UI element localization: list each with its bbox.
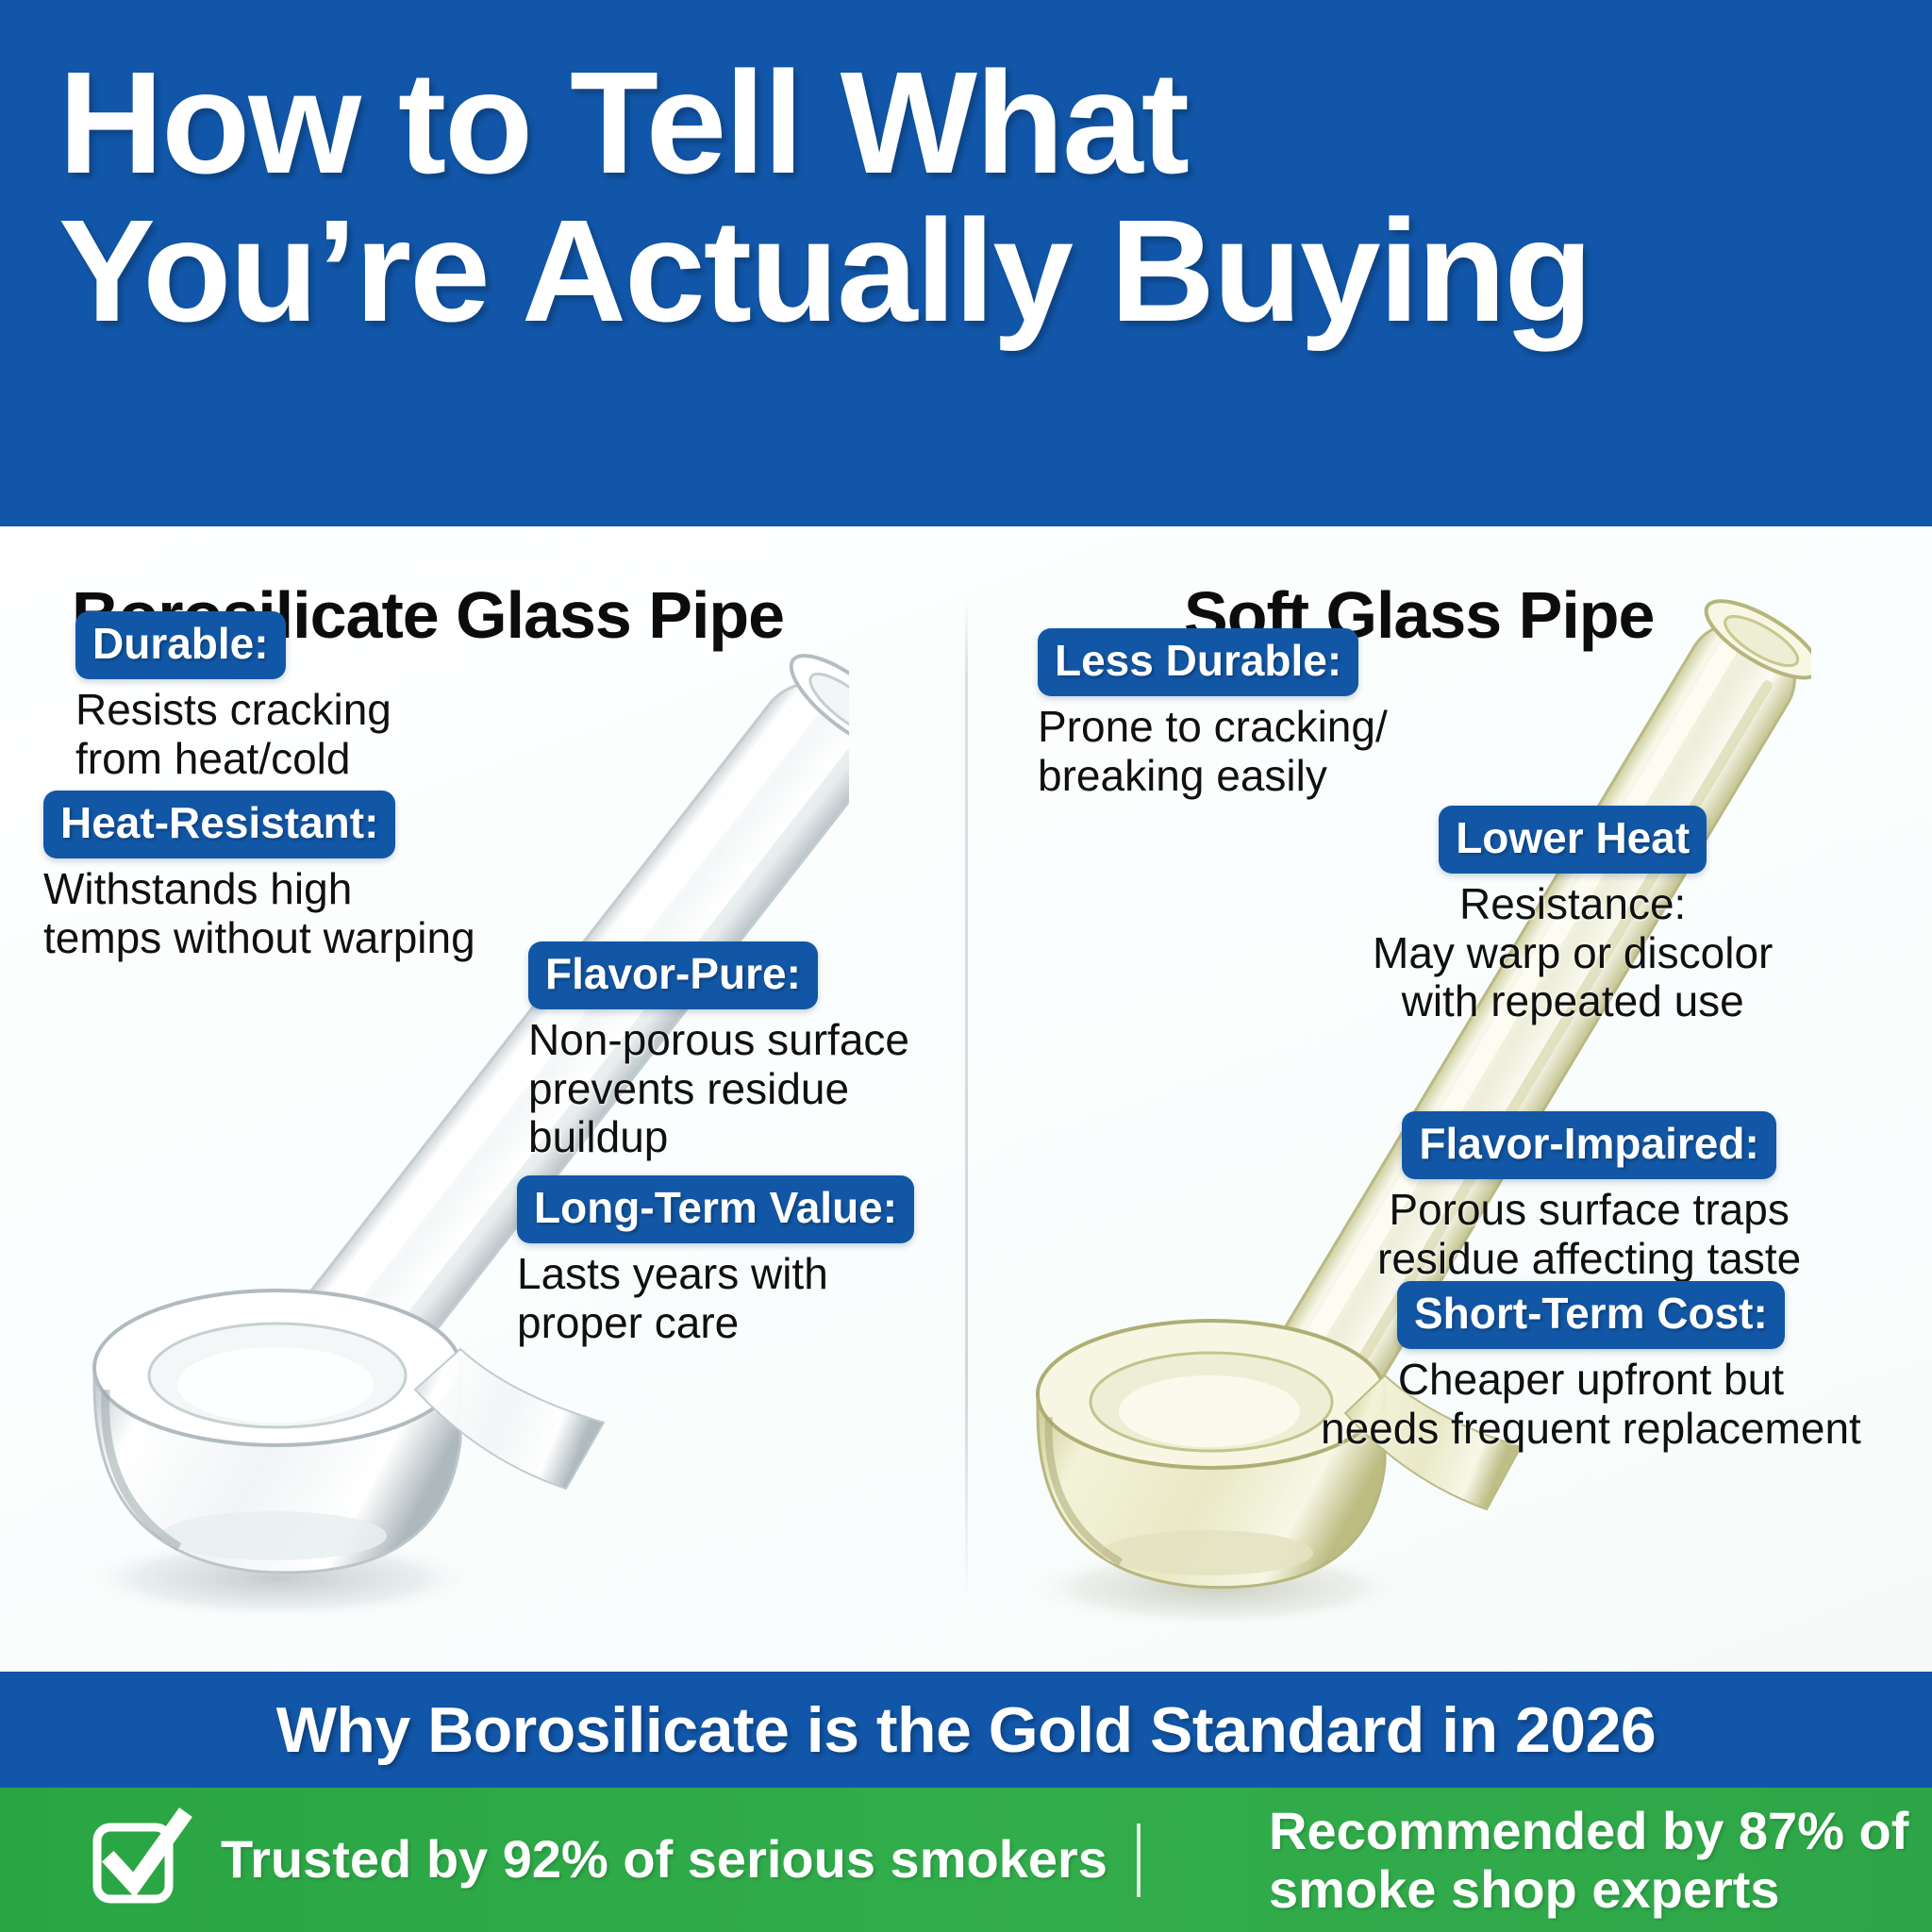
footer-divider — [1137, 1824, 1141, 1897]
checkbox-check-icon — [91, 1811, 189, 1909]
badge-less-durable: Less Durable: — [1038, 628, 1358, 696]
badge-lower-heat: Lower Heat — [1439, 806, 1707, 874]
column-divider — [965, 598, 968, 1598]
fact-less-durable: Less Durable: Prone to cracking/ breakin… — [1038, 628, 1388, 800]
gold-standard-banner-text: Why Borosilicate is the Gold Standard in… — [276, 1693, 1657, 1767]
gold-standard-banner: Why Borosilicate is the Gold Standard in… — [0, 1672, 1932, 1788]
badge-long-term-value: Long-Term Value: — [517, 1175, 914, 1243]
badge-flavor-pure: Flavor-Pure: — [528, 941, 818, 1009]
page-title: How to Tell What You’re Actually Buying — [58, 49, 1889, 345]
fact-heat-resistant: Heat-Resistant: Withstands high temps wi… — [43, 791, 475, 962]
fact-short-term-cost: Short-Term Cost: Cheaper upfront but nee… — [1321, 1281, 1861, 1453]
page-title-line-1: How to Tell What — [58, 42, 1188, 204]
fact-less-durable-desc: Prone to cracking/ breaking easily — [1038, 703, 1388, 800]
fact-flavor-pure: Flavor-Pure: Non-porous surface prevents… — [528, 941, 909, 1162]
fact-lower-heat-desc: Resistance: May warp or discolor with re… — [1373, 880, 1773, 1026]
footer-stats-bar: Trusted by 92% of serious smokers Recomm… — [0, 1788, 1932, 1932]
fact-flavor-pure-desc: Non-porous surface prevents residue buil… — [528, 1016, 909, 1162]
badge-heat-resistant: Heat-Resistant: — [43, 791, 395, 858]
fact-long-term-value-desc: Lasts years with proper care — [517, 1250, 914, 1347]
page-title-line-2: You’re Actually Buying — [58, 197, 1889, 345]
fact-heat-resistant-desc: Withstands high temps without warping — [43, 865, 475, 962]
badge-flavor-impaired: Flavor-Impaired: — [1402, 1111, 1775, 1179]
fact-durable-desc: Resists cracking from heat/cold — [75, 686, 391, 783]
footer-stat-recommended: Recommended by 87% of smoke shop experts — [1269, 1788, 1908, 1932]
footer-recommended-text: Recommended by 87% of smoke shop experts — [1269, 1802, 1908, 1918]
footer-stat-trusted: Trusted by 92% of serious smokers — [91, 1788, 1108, 1932]
fact-flavor-impaired: Flavor-Impaired: Porous surface traps re… — [1377, 1111, 1801, 1283]
infographic-page: How to Tell What You’re Actually Buying … — [0, 0, 1932, 1932]
badge-short-term-cost: Short-Term Cost: — [1397, 1281, 1785, 1349]
comparison-section: Borosilicate Glass Pipe Soft Glass Pipe — [0, 526, 1932, 1672]
fact-short-term-cost-desc: Cheaper upfront but needs frequent repla… — [1321, 1356, 1861, 1453]
badge-durable: Durable: — [75, 611, 286, 679]
fact-long-term-value: Long-Term Value: Lasts years with proper… — [517, 1175, 914, 1347]
fact-durable: Durable: Resists cracking from heat/cold — [75, 611, 391, 783]
fact-flavor-impaired-desc: Porous surface traps residue affecting t… — [1377, 1186, 1801, 1283]
footer-trusted-text: Trusted by 92% of serious smokers — [221, 1831, 1108, 1888]
header-banner: How to Tell What You’re Actually Buying — [0, 0, 1932, 526]
fact-lower-heat: Lower Heat Resistance: May warp or disco… — [1373, 806, 1773, 1026]
